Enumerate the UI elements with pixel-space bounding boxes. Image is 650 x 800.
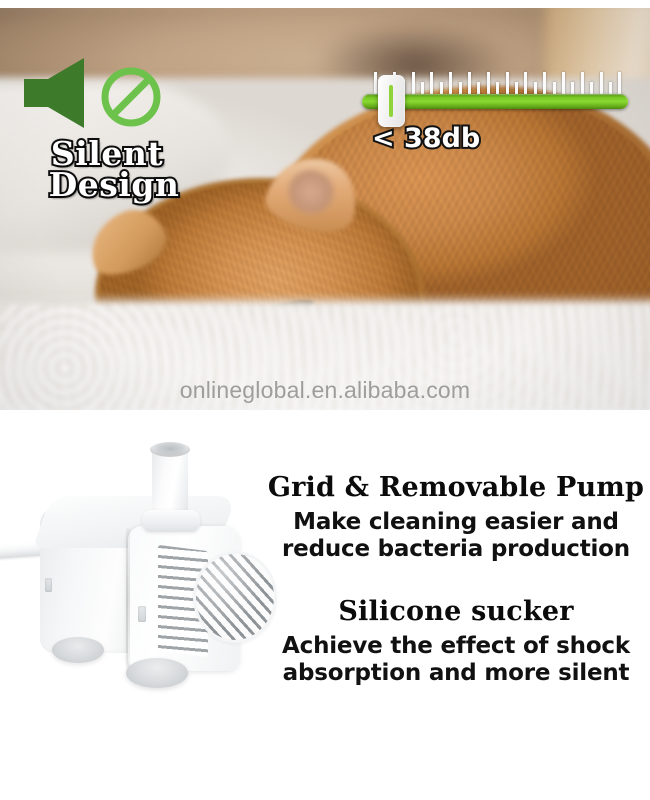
gauge-tick (609, 82, 612, 94)
gauge-tick (543, 72, 546, 94)
gauge-tick (421, 82, 424, 94)
silent-design-text: Silent Design (22, 138, 192, 200)
gauge-tick (581, 72, 584, 94)
feature-body-line-1: Achieve the effect of shock (262, 633, 650, 660)
silent-design-line-2: Design (22, 169, 192, 200)
gauge-tick (374, 72, 377, 94)
gauge-slider-handle[interactable] (378, 75, 405, 127)
gauge-tick (600, 72, 603, 94)
feature-body-line-2: reduce bacteria production (262, 536, 650, 563)
silent-design-badge: Silent Design (22, 56, 192, 200)
gauge-tick (468, 72, 471, 94)
no-sound-prohibition-icon (100, 66, 162, 128)
pump-outlet-rim (150, 442, 190, 457)
gauge-tick (412, 72, 415, 94)
pump-housing-seam (126, 528, 130, 670)
decibel-value-label: < 38db (372, 123, 628, 154)
gauge-tick (534, 82, 537, 94)
gauge-tick (430, 72, 433, 94)
gauge-tick (496, 82, 499, 94)
gauge-tick (524, 72, 527, 94)
feature-title-grid-pump: Grid & Removable Pump (262, 472, 650, 504)
gauge-tick (477, 82, 480, 94)
gauge-tick (440, 82, 443, 94)
pump-suction-cup-right (126, 658, 188, 688)
product-feature-image: Silent Design < 38db onlineglobal.en.ali… (0, 0, 650, 800)
pump-outlet-base (142, 510, 200, 532)
feature-title-silicone-sucker: Silicone sucker (262, 596, 650, 628)
gauge-tick (618, 72, 621, 94)
feature-body-silicone-sucker: Achieve the effect of shock absorption a… (262, 633, 650, 687)
gauge-tick (562, 72, 565, 94)
water-pump-product-image (0, 430, 280, 720)
gauge-slider-track[interactable] (362, 94, 628, 109)
gauge-tick (590, 82, 593, 94)
gauge-tick (506, 72, 509, 94)
pump-side-clip-left (45, 578, 52, 592)
feature-callout-grid-pump: Grid & Removable Pump Make cleaning easi… (262, 472, 650, 563)
pump-suction-cup-left (52, 637, 104, 663)
gauge-tick (515, 82, 518, 94)
cat-photo-panel: Silent Design < 38db onlineglobal.en.ali… (0, 8, 650, 410)
feature-body-line-2: absorption and more silent (262, 660, 650, 687)
noise-level-gauge: < 38db (362, 68, 628, 154)
gauge-tick (487, 72, 490, 94)
gauge-tick (571, 82, 574, 94)
feature-callout-silicone-sucker: Silicone sucker Achieve the effect of sh… (262, 596, 650, 687)
site-watermark: onlineglobal.en.alibaba.com (0, 377, 650, 404)
silent-icon-group (22, 56, 182, 136)
feature-body-grid-pump: Make cleaning easier and reduce bacteria… (262, 509, 650, 563)
pump-side-clip-front (138, 606, 146, 622)
feature-body-line-1: Make cleaning easier and (262, 509, 650, 536)
gauge-tick (449, 72, 452, 94)
speaker-icon (22, 56, 100, 130)
gauge-tick (459, 82, 462, 94)
gauge-tick (553, 82, 556, 94)
features-panel: Grid & Removable Pump Make cleaning easi… (0, 410, 650, 800)
